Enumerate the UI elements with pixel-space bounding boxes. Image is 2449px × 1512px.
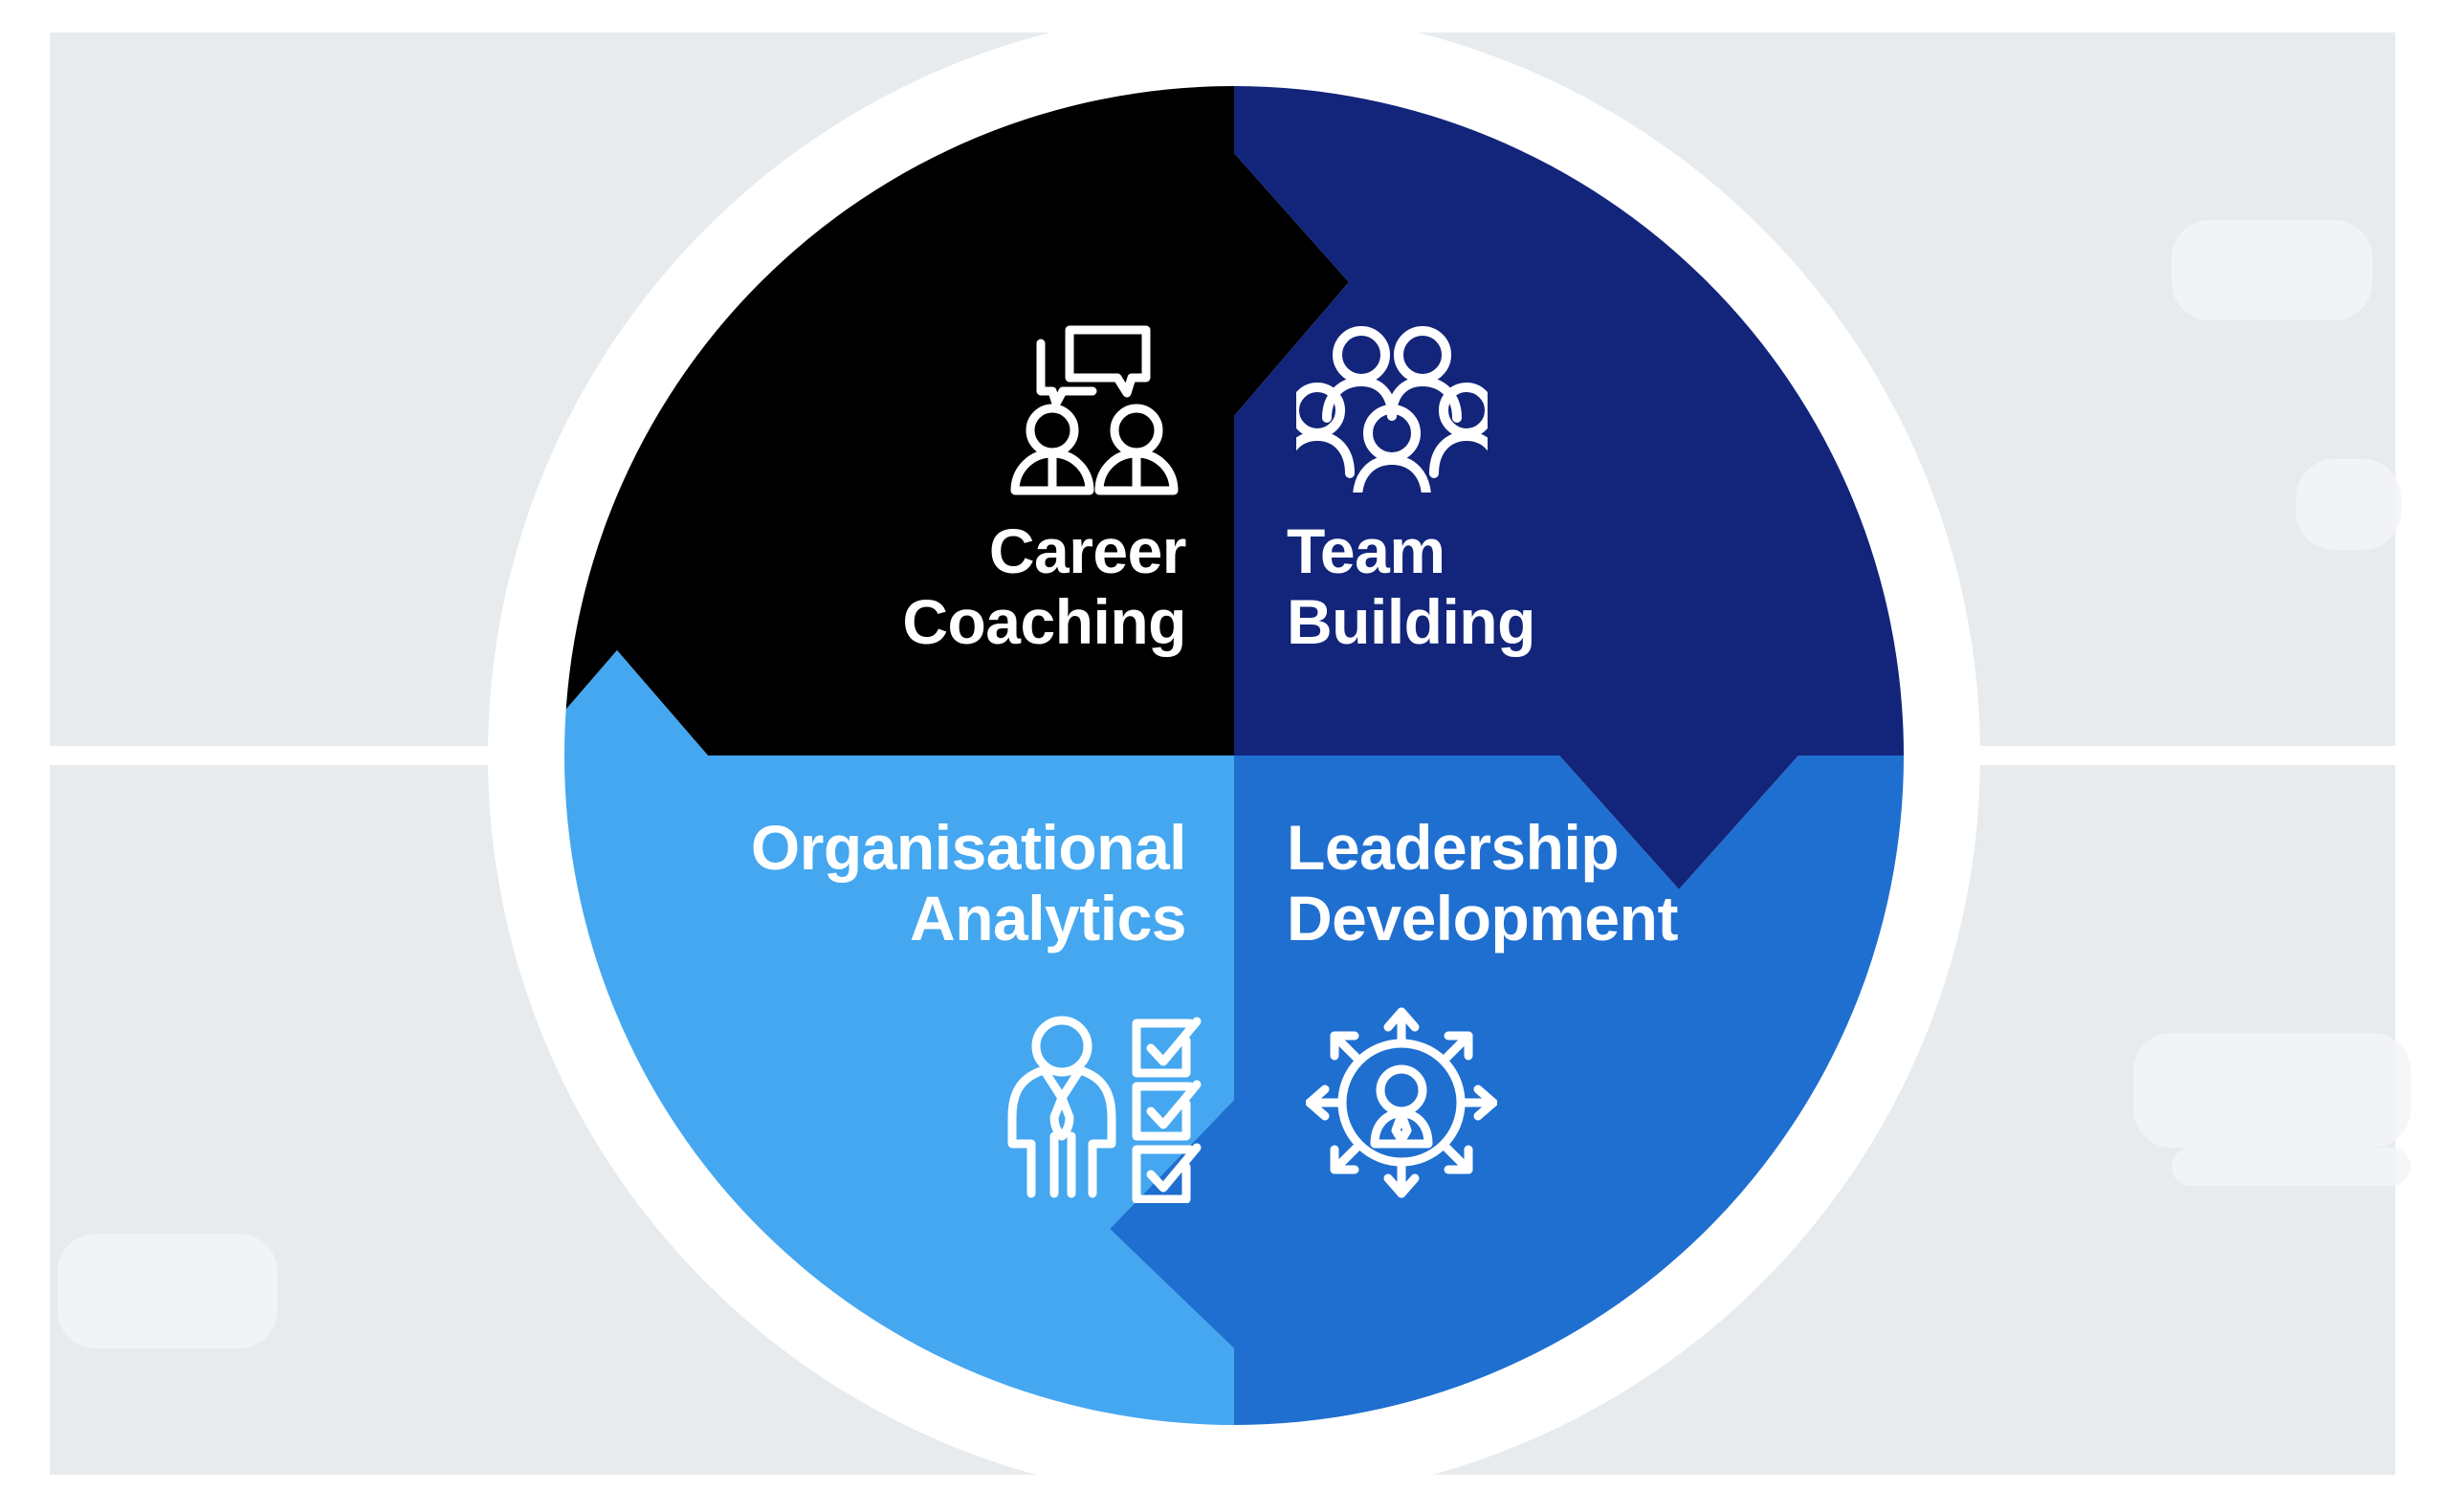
two-people-speech-bubbles-icon [1003, 311, 1194, 507]
background-texture-mark [2172, 1148, 2411, 1186]
person-in-circle-with-arrows-icon [1306, 1002, 1497, 1208]
quadrant-label-career-coaching: Career Coaching [784, 516, 1186, 658]
background-texture-mark [2172, 220, 2372, 320]
group-of-five-people-icon [1296, 320, 1488, 497]
quadrant-wheel [488, 10, 1980, 1501]
quadrant-label-team-building: Team Building [1287, 516, 1688, 658]
quadrant-label-organisational-analytics: Organisational Analytics [612, 813, 1186, 954]
wheel-segments [488, 10, 1980, 1501]
background-texture-mark [57, 1234, 277, 1348]
quadrant-label-leadership-development: Leadership Development [1287, 813, 1861, 954]
background-texture-mark [2133, 1033, 2411, 1148]
person-with-checklist-icon [1003, 1002, 1203, 1208]
diagram-canvas: Career Coaching Team Building Organisati… [0, 0, 2449, 1512]
background-texture-mark [2296, 459, 2401, 550]
